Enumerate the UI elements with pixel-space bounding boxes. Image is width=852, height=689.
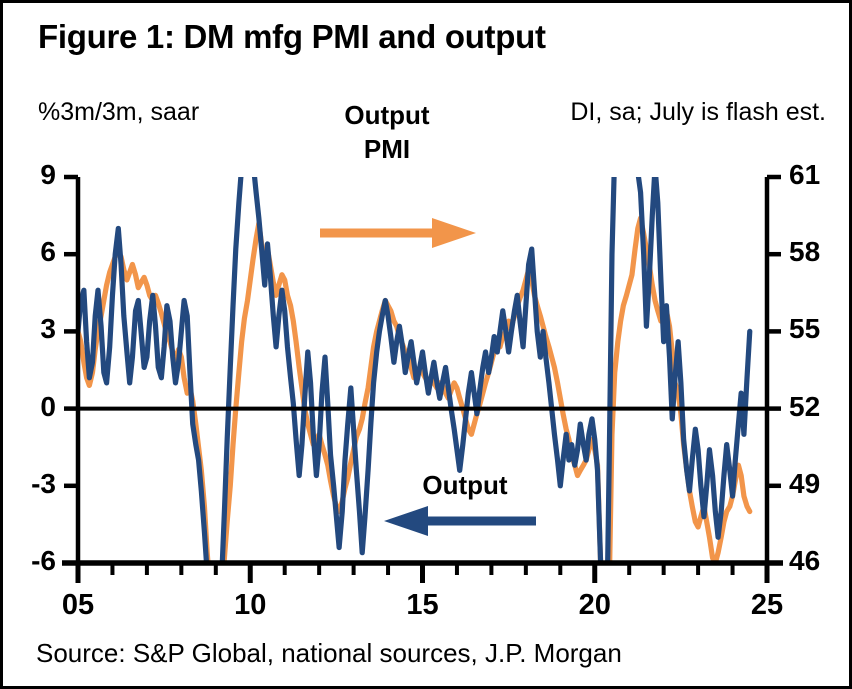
y-axis-right-tick-label: 46 [789, 547, 849, 575]
y-axis-left-tick-label: 0 [0, 393, 56, 421]
y-axis-right-tick-label: 55 [789, 315, 849, 343]
x-axis-tick-label: 10 [220, 591, 280, 620]
arrow-output-pmi-right [320, 218, 476, 248]
x-axis-tick-label: 05 [48, 591, 108, 620]
chart-plot-area [0, 0, 852, 689]
x-axis-ticks [78, 563, 767, 583]
arrow-output-left [384, 506, 536, 536]
y-axis-left-tick-label: -6 [0, 547, 56, 575]
y-axis-right-tick-label: 58 [789, 238, 849, 266]
y-axis-left-tick-label: 6 [0, 238, 56, 266]
y-axis-right-tick-label: 49 [789, 470, 849, 498]
y-axis-left-tick-label: 9 [0, 161, 56, 189]
x-axis-tick-label: 15 [393, 591, 453, 620]
y-axis-left-tick-label: 3 [0, 315, 56, 343]
y-axis-left-tick-label: -3 [0, 470, 56, 498]
y-axis-right-tick-label: 61 [789, 161, 849, 189]
figure-container: Figure 1: DM mfg PMI and output %3m/3m, … [0, 0, 852, 689]
x-axis-tick-label: 20 [565, 591, 625, 620]
y-axis-right-tick-label: 52 [789, 393, 849, 421]
x-axis-tick-label: 25 [737, 591, 797, 620]
